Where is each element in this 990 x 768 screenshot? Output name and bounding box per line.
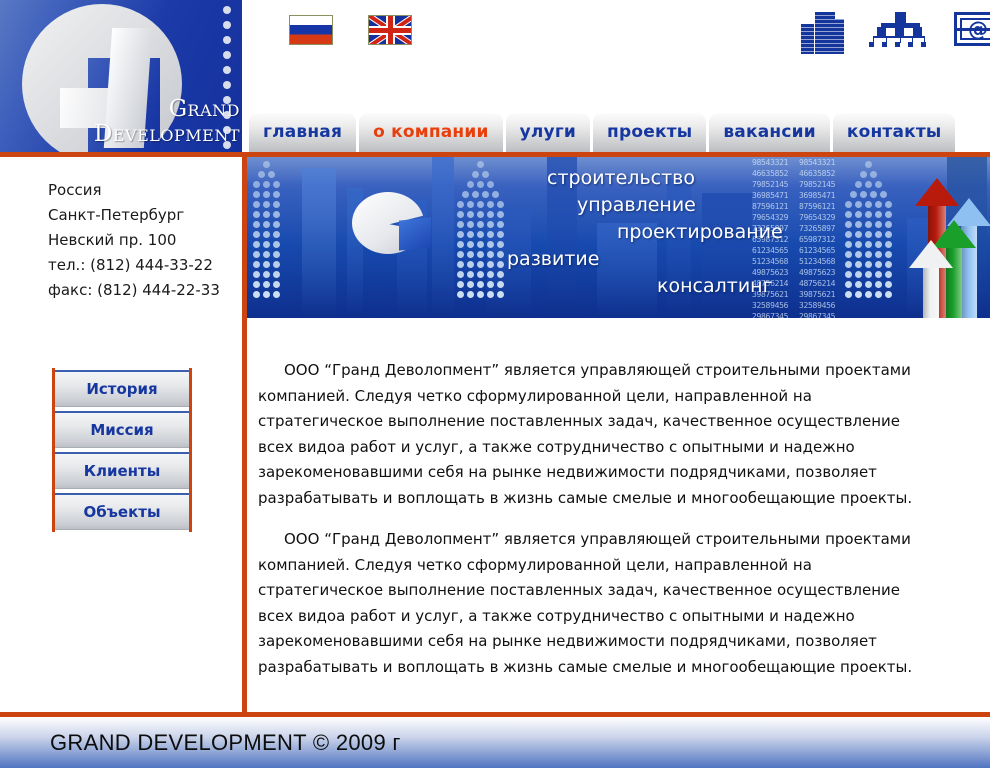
- sidebar-menu: ИсторияМиссияКлиентыОбъекты: [52, 368, 192, 532]
- logo-block[interactable]: Grand Development: [0, 0, 242, 152]
- contact-line-2: Невский пр. 100: [48, 228, 243, 253]
- pie-wedge-blue-icon: [399, 217, 431, 250]
- logo-line-2: Development: [50, 123, 240, 146]
- nav-tab-5[interactable]: контакты: [833, 112, 956, 152]
- banner-word-3: проектирование: [497, 219, 977, 246]
- main-content: ООО “Гранд Деволопмент” является управля…: [258, 358, 918, 696]
- banner-tower-3: [432, 157, 454, 318]
- site-header: Grand Development @ главнаяо ко: [0, 0, 990, 152]
- sidebar-item-label: Клиенты: [84, 462, 161, 480]
- sidebar-item-label: Миссия: [90, 421, 153, 439]
- sitemap-node-0: [895, 12, 906, 23]
- copyright-text: GRAND DEVELOPMENT © 2009 г: [50, 730, 401, 756]
- hero-banner: 98543321 46635852 79852145 36985471 8759…: [247, 157, 990, 318]
- sitemap-icon[interactable]: [867, 12, 933, 52]
- contact-info: РоссияСанкт-ПетербургНевский пр. 100тел.…: [48, 178, 243, 303]
- perforation-strip: [214, 0, 242, 152]
- nav-tab-3[interactable]: проекты: [593, 112, 706, 152]
- header-right: @ главнаяо компанииулугипроектывакансиик…: [242, 0, 990, 152]
- banner-dot-arrow-left: [253, 157, 293, 318]
- banner-word-5: консалтинг: [497, 273, 977, 300]
- banner-word-1: строительство: [497, 165, 977, 192]
- sidebar-item-label: История: [86, 380, 157, 398]
- nav-tab-2[interactable]: улуги: [506, 112, 590, 152]
- banner-word-2: управление: [497, 192, 977, 219]
- sitemap-node-3: [913, 27, 922, 36]
- logo-line-1: Grand: [50, 98, 240, 121]
- contact-line-3: тел.: (812) 444-33-22: [48, 253, 243, 278]
- banner-keywords: строительство управление проектирование …: [497, 165, 977, 300]
- email-icon[interactable]: @: [954, 12, 990, 46]
- sidebar-item-1[interactable]: Миссия: [55, 411, 189, 448]
- buildings-icon[interactable]: [801, 12, 847, 54]
- sidebar-item-3[interactable]: Объекты: [55, 493, 189, 530]
- sidebar-item-0[interactable]: История: [55, 370, 189, 407]
- banner-word-4: развитие: [497, 246, 977, 273]
- contact-line-0: Россия: [48, 178, 243, 203]
- sitemap-node-1: [877, 27, 886, 36]
- sidebar-item-2[interactable]: Клиенты: [55, 452, 189, 489]
- contact-line-4: факс: (812) 444-22-33: [48, 278, 243, 303]
- main-nav: главнаяо компанииулугипроектывакансиикон…: [249, 110, 955, 152]
- nav-tab-label: проекты: [607, 122, 692, 142]
- nav-tab-label: о компании: [373, 122, 489, 142]
- page-root: Grand Development @ главнаяо ко: [0, 0, 990, 768]
- flag-uk-icon[interactable]: [368, 15, 412, 45]
- flag-ru-icon[interactable]: [289, 15, 333, 45]
- content-paragraph-0: ООО “Гранд Деволопмент” является управля…: [258, 358, 918, 511]
- contact-line-1: Санкт-Петербург: [48, 203, 243, 228]
- nav-tab-1[interactable]: о компании: [359, 112, 503, 152]
- nav-tab-0[interactable]: главная: [249, 112, 356, 152]
- growth-arrow-3: [911, 240, 951, 318]
- nav-tab-label: улуги: [520, 122, 576, 142]
- nav-tab-label: вакансии: [723, 122, 816, 142]
- sitemap-node-2: [895, 27, 904, 36]
- logo-wordmark: Grand Development: [50, 98, 240, 146]
- nav-tab-label: контакты: [847, 122, 942, 142]
- nav-tab-4[interactable]: вакансии: [709, 112, 830, 152]
- content-paragraph-1: ООО “Гранд Деволопмент” является управля…: [258, 527, 918, 680]
- banner-tower-0: [302, 168, 336, 318]
- sidebar-item-label: Объекты: [83, 503, 160, 521]
- site-footer: GRAND DEVELOPMENT © 2009 г: [0, 717, 990, 768]
- nav-tab-label: главная: [263, 122, 342, 142]
